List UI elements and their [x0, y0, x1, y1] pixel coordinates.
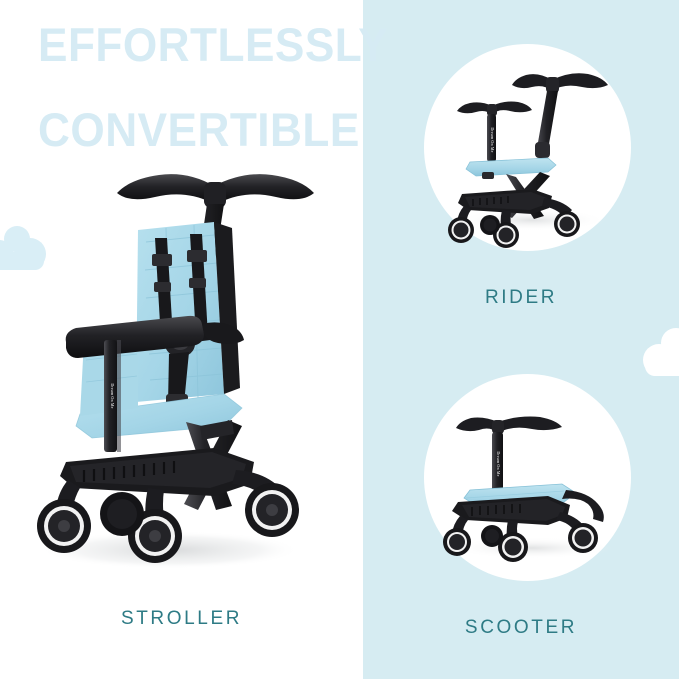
wheel-rear-inner [481, 525, 503, 547]
wheel-rear-inner [100, 492, 144, 536]
product-image-scooter: Dream On Me [436, 398, 626, 568]
wheel-front-left [37, 499, 91, 553]
headline-line-1: EFFORTLESSLY [38, 18, 388, 71]
child-handlebar: Dream On Me [457, 102, 532, 163]
wheel-front-left [443, 528, 471, 556]
frame-post-left: Dream On Me [104, 340, 121, 452]
caption-rider: RIDER [363, 287, 679, 309]
wheel-rear-right [568, 523, 598, 553]
cloud-icon-right [643, 328, 679, 376]
brand-logo-text: Dream On Me [110, 383, 115, 408]
brand-logo-text: Dream On Me [490, 127, 495, 152]
child-handlebar: Dream On Me [456, 417, 562, 494]
brand-logo-text: Dream On Me [496, 451, 501, 476]
caption-scooter: SCOOTER [363, 617, 679, 639]
wheel-front-left [448, 217, 474, 243]
wheel-rear-right [245, 483, 299, 537]
product-image-rider: Dream On Me [440, 58, 620, 238]
product-image-stroller: Dream On Me [18, 158, 318, 578]
wheel-rear-inner [480, 215, 500, 235]
push-handle [512, 73, 608, 158]
headline-line-2: CONVERTIBLE [38, 107, 358, 152]
headline: EFFORTLESSLY CONVERTIBLE [38, 22, 358, 152]
seat-back [136, 222, 240, 402]
wheel-rear-right [554, 211, 580, 237]
caption-stroller: STROLLER [0, 608, 363, 630]
product-feature-image: EFFORTLESSLY CONVERTIBLE [0, 0, 679, 679]
